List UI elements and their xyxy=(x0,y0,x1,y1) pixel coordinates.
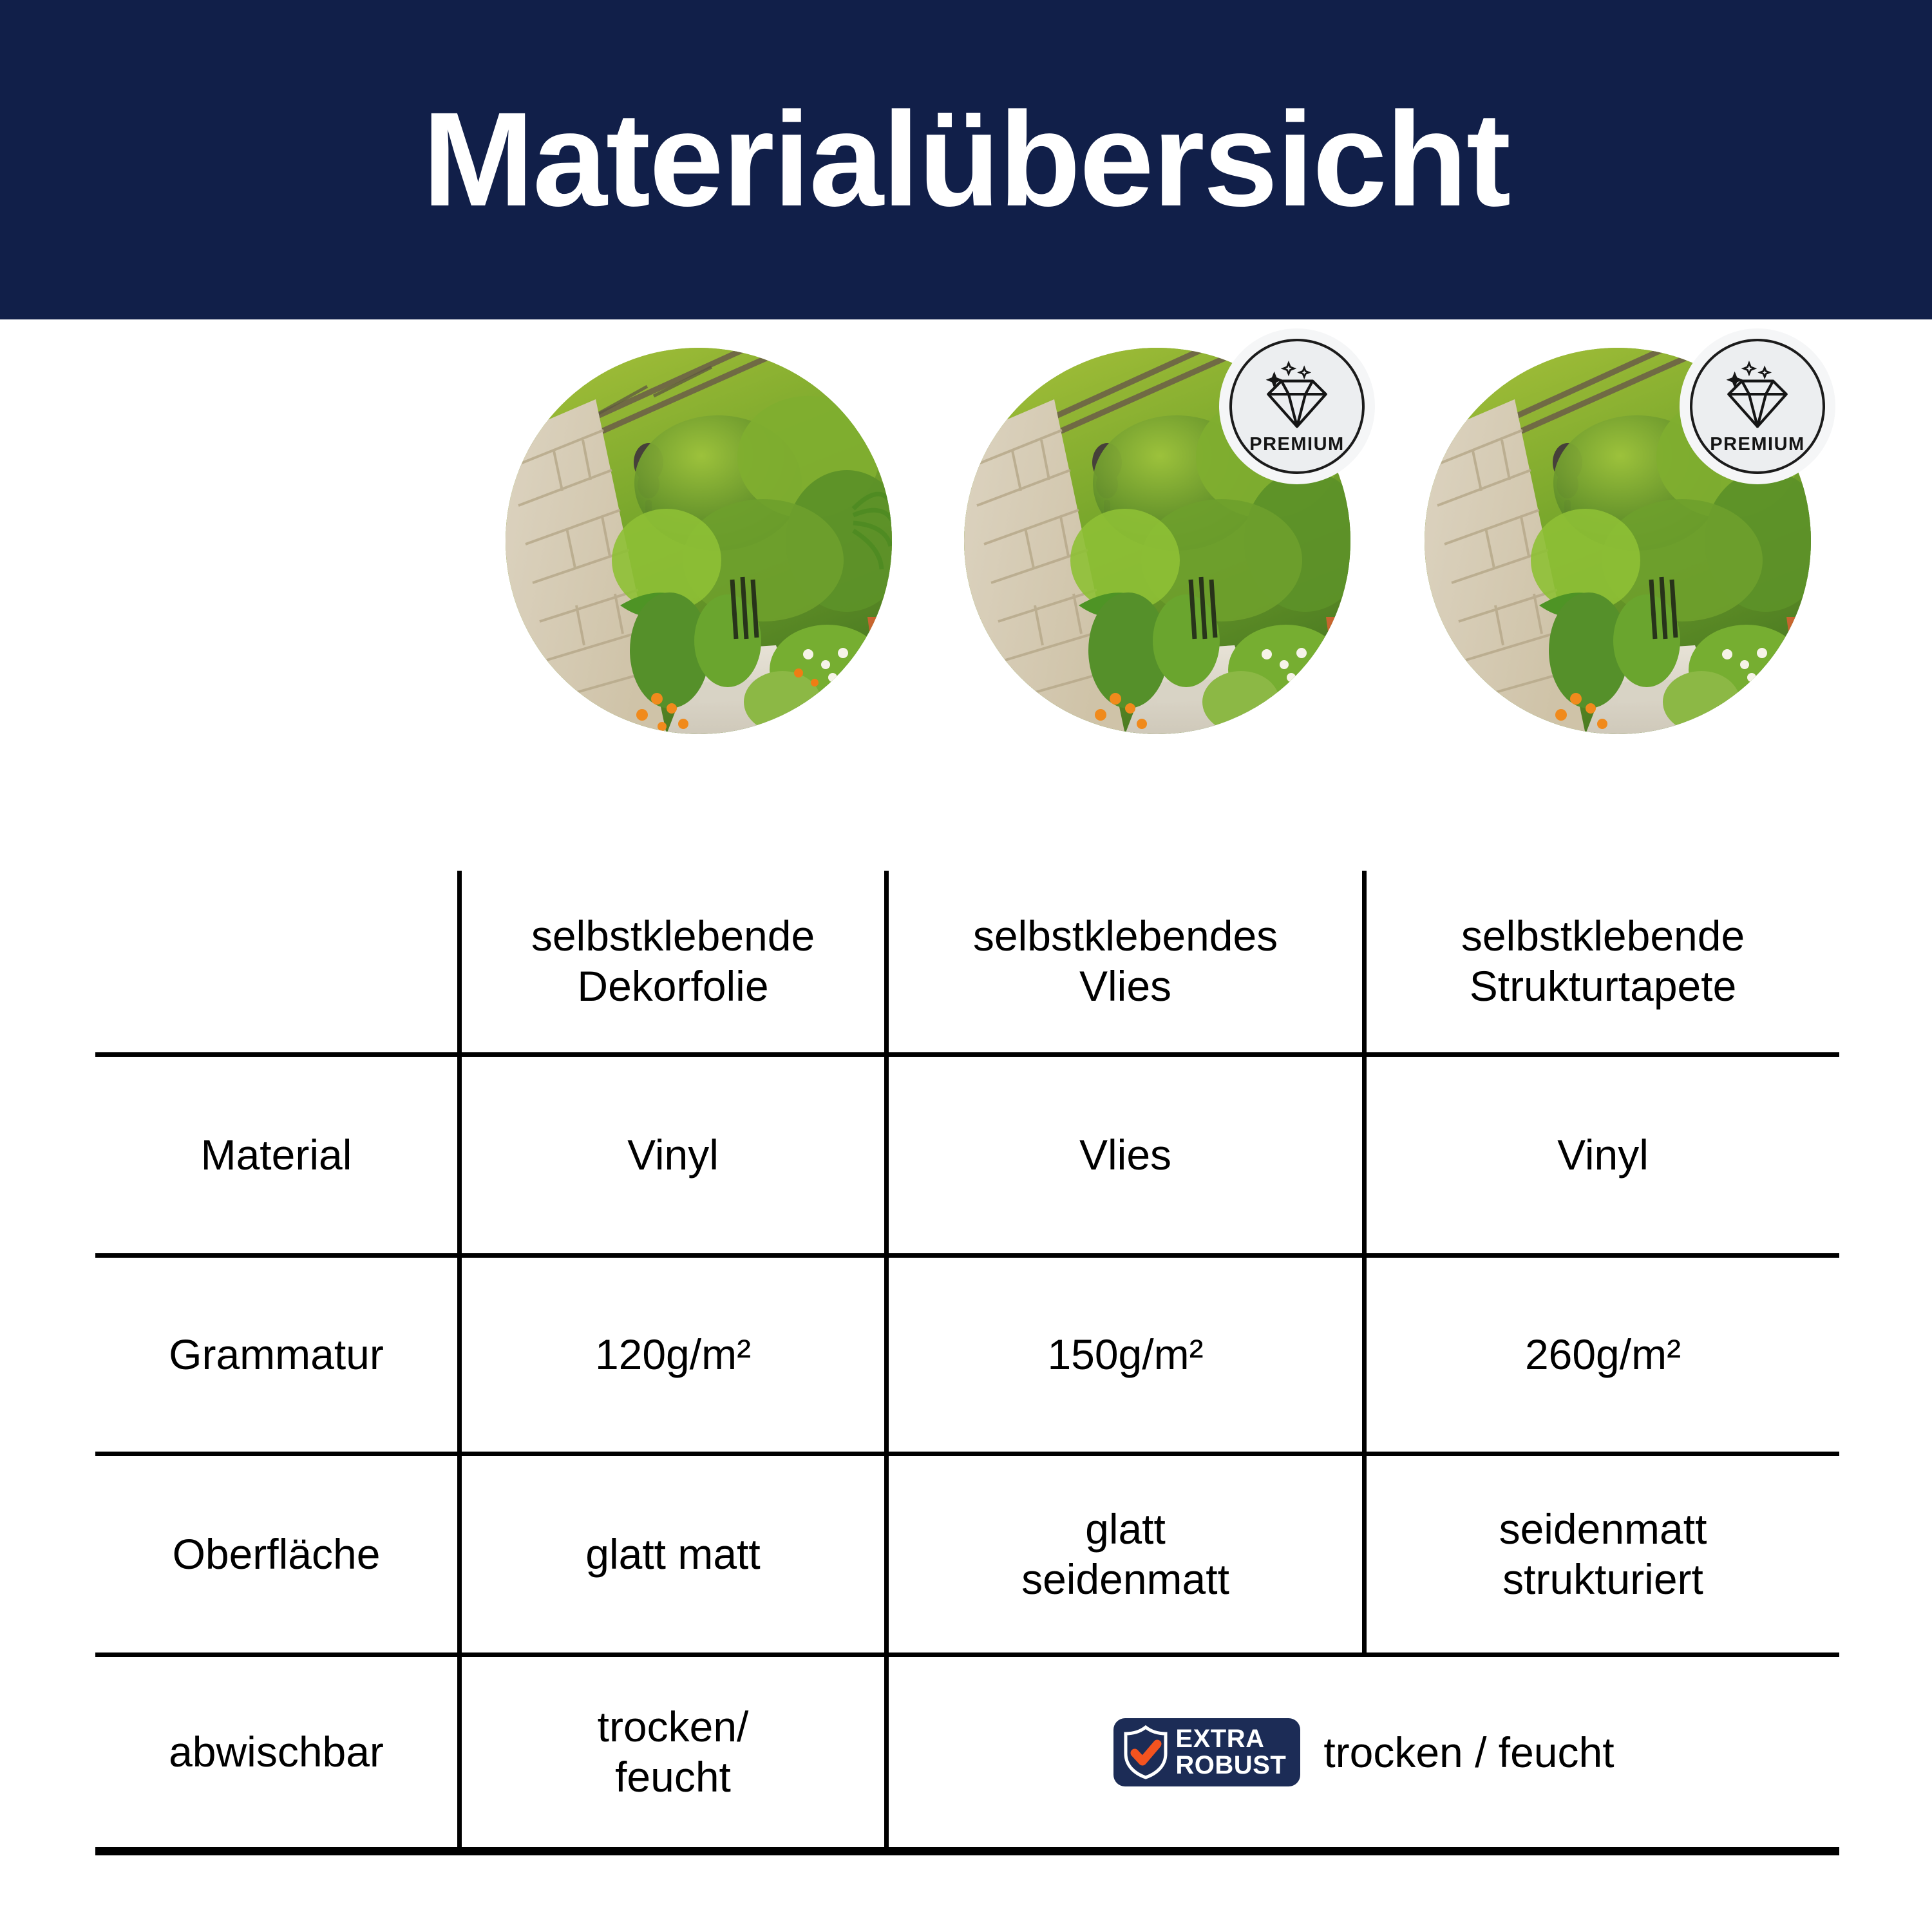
product-preview-1[interactable] xyxy=(506,348,892,734)
premium-badge-label: PREMIUM xyxy=(1710,434,1804,455)
table-header-row: selbstklebende Dekorfolie selbstklebende… xyxy=(95,871,1839,1052)
column-header-strukturtapete: selbstklebende Strukturtapete xyxy=(1362,871,1839,1052)
column-header-vlies: selbstklebendes Vlies xyxy=(884,871,1362,1052)
cell-oberflaeche-vlies: glatt seidenmatt xyxy=(884,1456,1362,1653)
shield-check-icon xyxy=(1122,1725,1169,1779)
table-row-abwischbar: abwischbar trocken/ feucht EXTRA ROBUST … xyxy=(95,1653,1839,1847)
row-label-abwischbar: abwischbar xyxy=(95,1657,457,1847)
premium-badge: PREMIUM xyxy=(1690,339,1825,474)
table-row-oberflaeche: Oberfläche glatt matt glatt seidenmatt s… xyxy=(95,1452,1839,1653)
row-label-oberflaeche: Oberfläche xyxy=(95,1456,457,1653)
material-comparison-table: selbstklebende Dekorfolie selbstklebende… xyxy=(95,871,1839,1855)
cell-oberflaeche-strukturtapete: seidenmatt strukturiert xyxy=(1362,1456,1839,1653)
page-header: Materialübersicht xyxy=(0,0,1932,319)
table-row-material: Material Vinyl Vlies Vinyl xyxy=(95,1052,1839,1253)
table-corner-cell xyxy=(95,871,457,1052)
diamond-icon xyxy=(1721,361,1794,430)
premium-badge: PREMIUM xyxy=(1229,339,1365,474)
product-preview-strip: PREMIUM xyxy=(0,348,1932,773)
extra-robust-badge: EXTRA ROBUST xyxy=(1113,1718,1300,1786)
garden-photo-1 xyxy=(506,348,892,734)
page-title: Materialübersicht xyxy=(422,93,1510,227)
row-label-grammatur: Grammatur xyxy=(95,1258,457,1452)
cell-abwischbar-vlies-strukturtapete: EXTRA ROBUST trocken / feucht xyxy=(884,1657,1839,1847)
cell-abwischbar-value: trocken / feucht xyxy=(1323,1728,1614,1777)
material-overview-page: Materialübersicht xyxy=(0,0,1932,1932)
product-preview-3[interactable]: PREMIUM xyxy=(1425,348,1811,734)
cell-grammatur-vlies: 150g/m² xyxy=(884,1258,1362,1452)
cell-grammatur-dekorfolie: 120g/m² xyxy=(457,1258,884,1452)
cell-material-dekorfolie: Vinyl xyxy=(457,1057,884,1253)
cell-oberflaeche-dekorfolie: glatt matt xyxy=(457,1456,884,1653)
cell-material-strukturtapete: Vinyl xyxy=(1362,1057,1839,1253)
cell-material-vlies: Vlies xyxy=(884,1057,1362,1253)
cell-abwischbar-dekorfolie: trocken/ feucht xyxy=(457,1657,884,1847)
cell-grammatur-strukturtapete: 260g/m² xyxy=(1362,1258,1839,1452)
product-preview-2[interactable]: PREMIUM xyxy=(964,348,1350,734)
extra-robust-badge-text: EXTRA ROBUST xyxy=(1175,1726,1286,1779)
diamond-icon xyxy=(1261,361,1333,430)
premium-badge-label: PREMIUM xyxy=(1249,434,1344,455)
row-label-material: Material xyxy=(95,1057,457,1253)
extra-robust-line2: ROBUST xyxy=(1175,1752,1286,1779)
table-row-grammatur: Grammatur 120g/m² 150g/m² 260g/m² xyxy=(95,1253,1839,1452)
column-header-dekorfolie: selbstklebende Dekorfolie xyxy=(457,871,884,1052)
extra-robust-line1: EXTRA xyxy=(1175,1726,1264,1752)
